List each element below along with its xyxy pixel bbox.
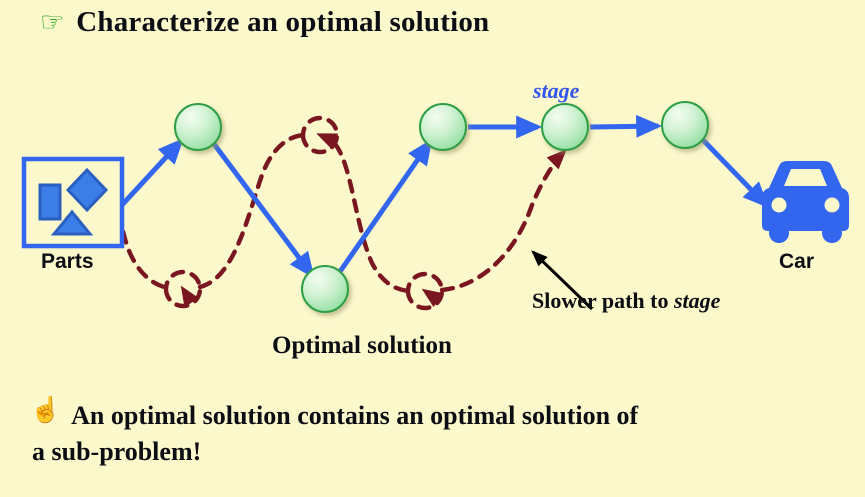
car-icon <box>762 161 849 243</box>
node-n1[interactable] <box>175 104 221 150</box>
parts-shape-rectangle <box>40 185 60 219</box>
node-stage[interactable] <box>542 104 588 150</box>
slower-path-segment-1 <box>120 212 168 288</box>
car-headlight-left <box>772 198 787 213</box>
optimal-edge-n5-to-car <box>703 140 766 205</box>
node-n2[interactable] <box>302 266 348 312</box>
slower-path-annotation-text: Slower path to <box>532 288 674 313</box>
slower-path-annotation: Slower path to stage <box>532 288 720 314</box>
car-windshield <box>784 169 827 186</box>
node-group <box>175 102 708 312</box>
slower-path-loop-1 <box>166 272 200 306</box>
pointing-hand-up-icon: ☝ <box>30 398 61 424</box>
slower-path-loop-3 <box>408 274 442 308</box>
car-wheel-right <box>822 223 842 243</box>
optimal-edge-parts-to-n1 <box>122 141 181 205</box>
conclusion-line-1-row: ☝ An optimal solution contains an optima… <box>30 398 830 435</box>
stage-label: stage <box>533 78 579 104</box>
slide-canvas: ☞ Characterize an optimal solution <box>0 0 865 497</box>
optimal-edge-n2-to-n3 <box>339 142 430 273</box>
slower-path-loop-2 <box>303 118 337 152</box>
slower-path-segment-2 <box>200 135 304 287</box>
parts-box[interactable] <box>24 159 122 246</box>
car-wheel-left <box>769 223 789 243</box>
slower-path-segment-4 <box>442 152 564 290</box>
car-headlight-right <box>825 198 840 213</box>
conclusion-block: ☝ An optimal solution contains an optima… <box>30 398 830 467</box>
conclusion-line-2: a sub-problem! <box>30 437 830 467</box>
optimal-edge-n1-to-n2 <box>214 144 312 275</box>
car-label: Car <box>779 250 814 274</box>
slower-path-annotation-emphasis: stage <box>674 288 720 313</box>
parts-label: Parts <box>41 250 94 274</box>
slower-path-segment-3 <box>335 144 409 291</box>
conclusion-line-1: An optimal solution contains an optimal … <box>71 398 638 435</box>
optimal-solution-caption: Optimal solution <box>272 332 452 360</box>
node-n5[interactable] <box>662 102 708 148</box>
optimal-edge-n4-to-n5 <box>590 126 658 127</box>
node-n3[interactable] <box>420 104 466 150</box>
